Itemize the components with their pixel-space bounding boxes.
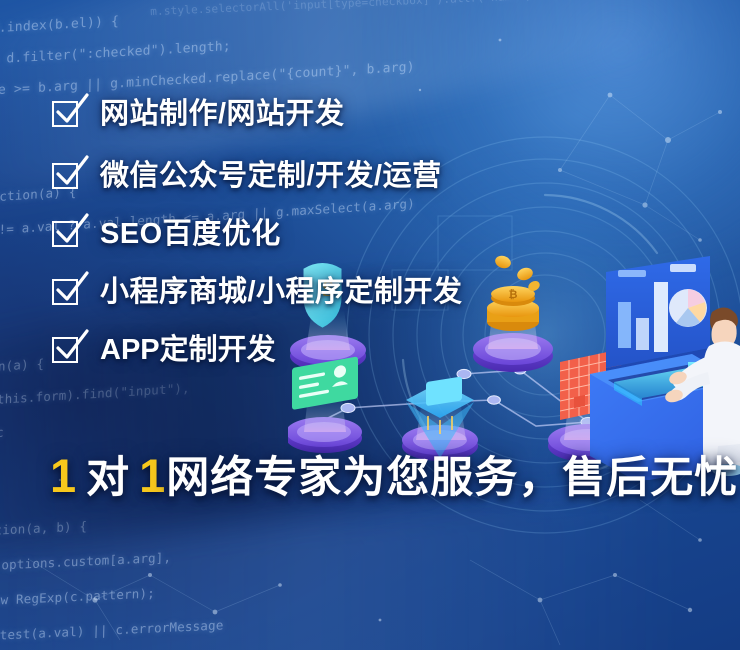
tagline: 1对1网络专家为您服务，售后无忧！	[50, 452, 740, 500]
checkbox-checked-icon	[52, 161, 82, 191]
checklist-item[interactable]: SEO百度优化	[52, 220, 692, 248]
checkbox-checked-icon	[52, 219, 82, 249]
checklist-item-label: 小程序商城/小程序定制开发	[100, 278, 463, 307]
tagline-mid-word: 对	[86, 454, 130, 502]
tagline-rest: 网络专家为您服务，售后无忧！	[166, 454, 740, 502]
checkbox-checked-icon	[52, 335, 82, 365]
tagline-number-one: 1	[50, 449, 77, 502]
code-block-d: unction(a, b) { = b.options.custom[a.arg…	[0, 502, 227, 650]
checklist-item-label: APP定制开发	[100, 336, 276, 365]
checklist-item-label: 微信公众号定制/开发/运营	[100, 162, 442, 191]
checklist-item[interactable]: 小程序商城/小程序定制开发	[52, 278, 692, 306]
code-line-top: m.style.selectorAll('input[type=checkbox…	[150, 0, 587, 18]
checkbox-checked-icon	[52, 277, 82, 307]
screen-sheen-bottom	[0, 481, 740, 650]
checklist-item-label: SEO百度优化	[100, 220, 281, 249]
tagline-number-two: 1	[139, 449, 166, 502]
checklist-item[interactable]: 微信公众号定制/开发/运营	[52, 162, 692, 190]
checkbox-checked-icon	[52, 99, 82, 129]
checklist-item[interactable]: 网站制作/网站开发	[52, 100, 692, 128]
checklist-item[interactable]: APP定制开发	[52, 336, 692, 364]
checklist-item-label: 网站制作/网站开发	[100, 100, 345, 129]
promo-banner: m.style.selectorAll('input[type=checkbox…	[0, 0, 740, 650]
services-checklist: 网站制作/网站开发 微信公众号定制/开发/运营 SEO百度优化 小程序商城/小程…	[52, 100, 692, 394]
